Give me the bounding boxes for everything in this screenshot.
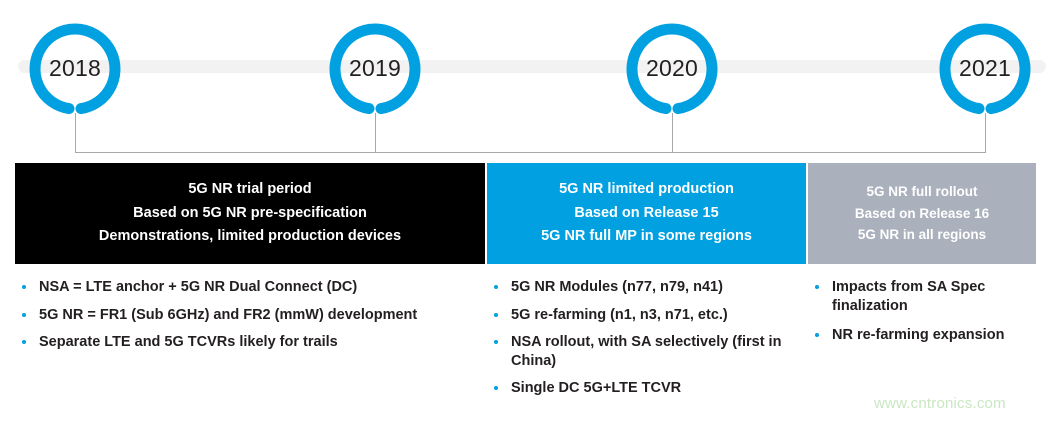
phase-subtitle-2: Demonstrations, limited production devic… [99, 225, 401, 248]
bullet-list: NSA = LTE anchor + 5G NR Dual Connect (D… [15, 278, 487, 352]
watermark: www.cntronics.com [874, 395, 1006, 412]
phase-title: 5G NR trial period [188, 178, 311, 201]
year-label: 2020 [625, 21, 719, 115]
list-item: Impacts from SA Spec finalization [808, 278, 1043, 315]
phase-subtitle-2: 5G NR full MP in some regions [541, 225, 752, 248]
list-item-label: Single DC 5G+LTE TCVR [511, 380, 681, 396]
bullet-dot-icon [22, 313, 26, 317]
list-item: NSA = LTE anchor + 5G NR Dual Connect (D… [15, 278, 487, 297]
phase-details-limited-production: 5G NR Modules (n77, n79, n41) 5G re-farm… [487, 278, 807, 407]
bullet-dot-icon [494, 313, 498, 317]
timeline-year-2020[interactable]: 2020 [625, 21, 719, 115]
list-item-label: NSA = LTE anchor + 5G NR Dual Connect (D… [39, 279, 357, 295]
list-item: Single DC 5G+LTE TCVR [487, 379, 807, 398]
bullet-dot-icon [22, 340, 26, 344]
list-item: 5G NR Modules (n77, n79, n41) [487, 278, 807, 297]
year-label: 2018 [28, 21, 122, 115]
bullet-dot-icon [494, 386, 498, 390]
phase-subtitle-1: Based on 5G NR pre-specification [133, 202, 367, 225]
phase-subtitle-1: Based on Release 16 [855, 203, 989, 225]
bullet-dot-icon [815, 333, 819, 337]
bullet-list: 5G NR Modules (n77, n79, n41) 5G re-farm… [487, 278, 807, 398]
year-label: 2021 [938, 21, 1032, 115]
list-item: 5G re-farming (n1, n3, n71, etc.) [487, 306, 807, 325]
timeline-year-2019[interactable]: 2019 [328, 21, 422, 115]
phase-details-full-rollout: Impacts from SA Spec finalization NR re-… [808, 278, 1043, 356]
bullet-dot-icon [22, 285, 26, 289]
phase-banner-full-rollout: 5G NR full rollout Based on Release 16 5… [808, 163, 1036, 264]
phase-banner-limited-production: 5G NR limited production Based on Releas… [487, 163, 806, 264]
list-item-label: 5G NR Modules (n77, n79, n41) [511, 279, 723, 295]
bullet-dot-icon [494, 340, 498, 344]
list-item-label: Separate LTE and 5G TCVRs likely for tra… [39, 334, 338, 350]
connector-lines [0, 0, 1059, 165]
list-item-label: Impacts from SA Spec finalization [832, 279, 985, 314]
phase-title: 5G NR full rollout [867, 181, 978, 203]
timeline-year-2018[interactable]: 2018 [28, 21, 122, 115]
list-item-label: 5G NR = FR1 (Sub 6GHz) and FR2 (mmW) dev… [39, 307, 417, 323]
phase-banner-trial: 5G NR trial period Based on 5G NR pre-sp… [15, 163, 485, 264]
phase-details-trial: NSA = LTE anchor + 5G NR Dual Connect (D… [15, 278, 487, 361]
list-item-label: 5G re-farming (n1, n3, n71, etc.) [511, 307, 728, 323]
timeline-year-2021[interactable]: 2021 [938, 21, 1032, 115]
list-item: 5G NR = FR1 (Sub 6GHz) and FR2 (mmW) dev… [15, 306, 487, 325]
list-item: NR re-farming expansion [808, 326, 1043, 345]
list-item-label: NSA rollout, with SA selectively (first … [511, 334, 781, 369]
phase-title: 5G NR limited production [559, 178, 734, 201]
roadmap-diagram: 2018 2019 2020 2021 5G NR trial period B… [0, 0, 1059, 424]
list-item: NSA rollout, with SA selectively (first … [487, 333, 807, 370]
bullet-list: Impacts from SA Spec finalization NR re-… [808, 278, 1043, 345]
year-label: 2019 [328, 21, 422, 115]
list-item: Separate LTE and 5G TCVRs likely for tra… [15, 333, 487, 352]
phase-subtitle-2: 5G NR in all regions [858, 224, 986, 246]
bullet-dot-icon [494, 285, 498, 289]
phase-subtitle-1: Based on Release 15 [574, 202, 718, 225]
list-item-label: NR re-farming expansion [832, 327, 1004, 343]
bullet-dot-icon [815, 285, 819, 289]
